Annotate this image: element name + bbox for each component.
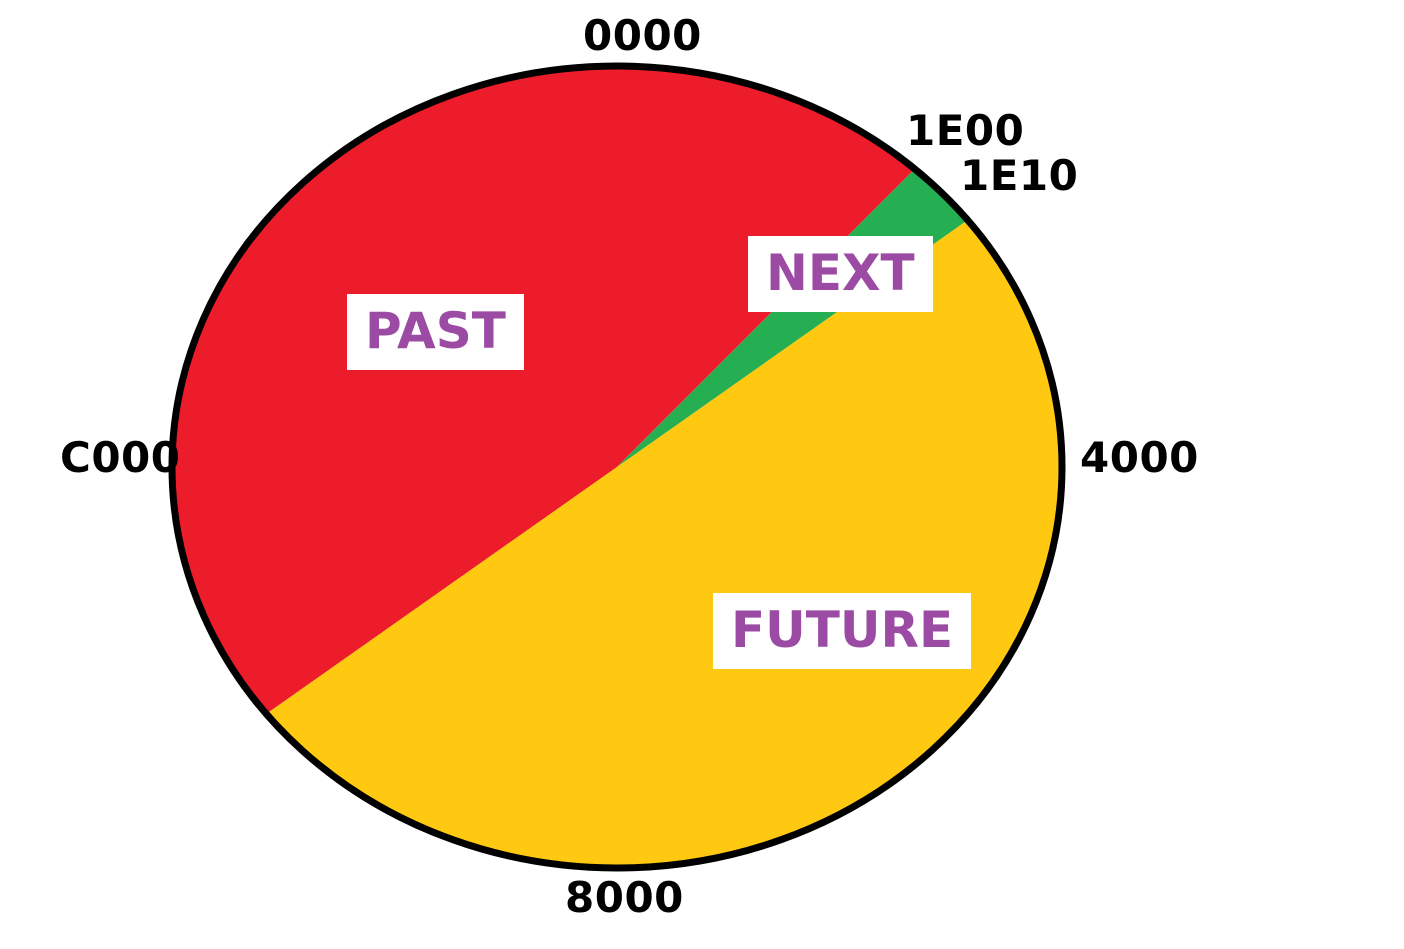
ring-label-1E10: 1E10 [960, 155, 1078, 197]
ring-label-0000: 0000 [583, 15, 702, 57]
sector-label-past: PAST [347, 294, 524, 370]
pie-sector-group [172, 66, 1061, 867]
sector-label-future: FUTURE [713, 593, 971, 669]
ring-label-C000: C000 [60, 437, 181, 479]
sequence-wheel-diagram: 0000 1E00 1E10 4000 8000 C000 PAST NEXT … [0, 0, 1404, 949]
ring-label-8000: 8000 [565, 877, 684, 919]
sector-label-next: NEXT [748, 236, 933, 312]
ring-label-1E00: 1E00 [906, 110, 1024, 152]
ring-label-4000: 4000 [1080, 437, 1199, 479]
